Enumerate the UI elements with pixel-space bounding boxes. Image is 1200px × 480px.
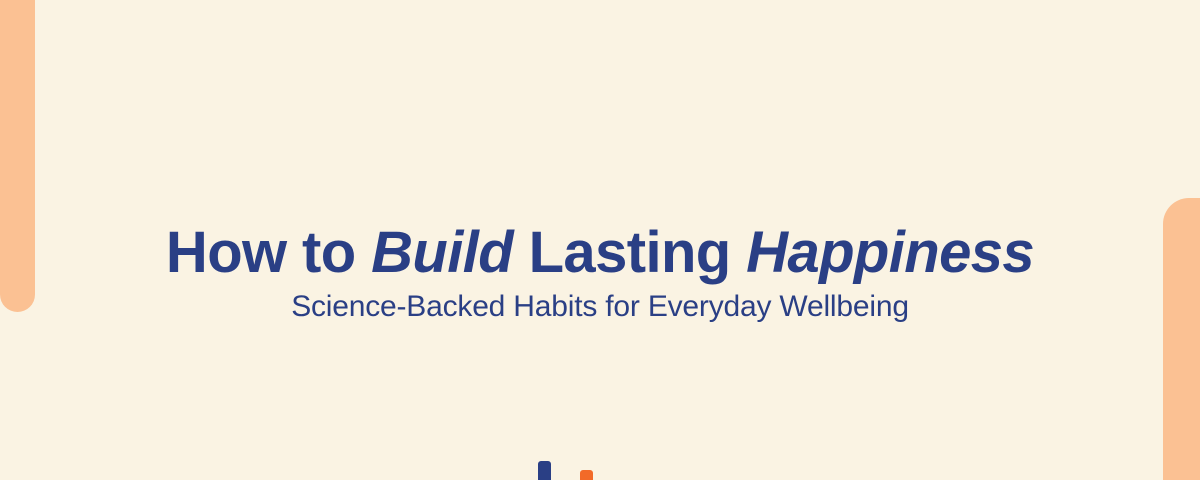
bar-chart bbox=[520, 440, 680, 480]
slide-canvas: How to Build Lasting Happiness Science-B… bbox=[0, 0, 1200, 480]
title-emphasis-2: Happiness bbox=[746, 220, 1034, 285]
headline-block: How to Build Lasting Happiness Science-B… bbox=[0, 222, 1200, 325]
chart-bar-series-b bbox=[580, 470, 593, 480]
title-emphasis-1: Build bbox=[371, 220, 513, 285]
title-part-2: Lasting bbox=[513, 220, 746, 285]
title-part-1: How to bbox=[166, 220, 371, 285]
page-title: How to Build Lasting Happiness bbox=[0, 222, 1200, 283]
page-subtitle: Science-Backed Habits for Everyday Wellb… bbox=[0, 289, 1200, 325]
chart-bar-series-a bbox=[538, 461, 551, 480]
chart-strip bbox=[0, 440, 1200, 480]
